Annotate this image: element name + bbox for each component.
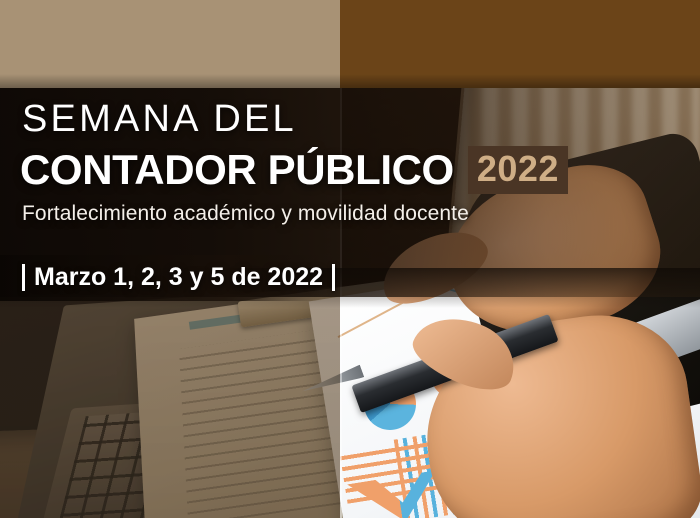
banner-text-content: SEMANA DEL CONTADOR PÚBLICO 2022 Fortale… bbox=[0, 0, 700, 518]
subtitle: Fortalecimiento académico y movilidad do… bbox=[22, 203, 469, 224]
headline-top-line: SEMANA DEL bbox=[22, 100, 297, 138]
date-separator-left-icon bbox=[22, 264, 25, 291]
headline-main-text: CONTADOR PÚBLICO bbox=[20, 149, 454, 191]
headline-main-row: CONTADOR PÚBLICO 2022 bbox=[20, 146, 568, 194]
year-badge: 2022 bbox=[468, 146, 568, 194]
date-separator-right-icon bbox=[332, 264, 335, 291]
event-promo-banner: SEMANA DEL CONTADOR PÚBLICO 2022 Fortale… bbox=[0, 0, 700, 518]
event-dates: Marzo 1, 2, 3 y 5 de 2022 bbox=[22, 264, 335, 291]
date-text: Marzo 1, 2, 3 y 5 de 2022 bbox=[34, 265, 323, 290]
